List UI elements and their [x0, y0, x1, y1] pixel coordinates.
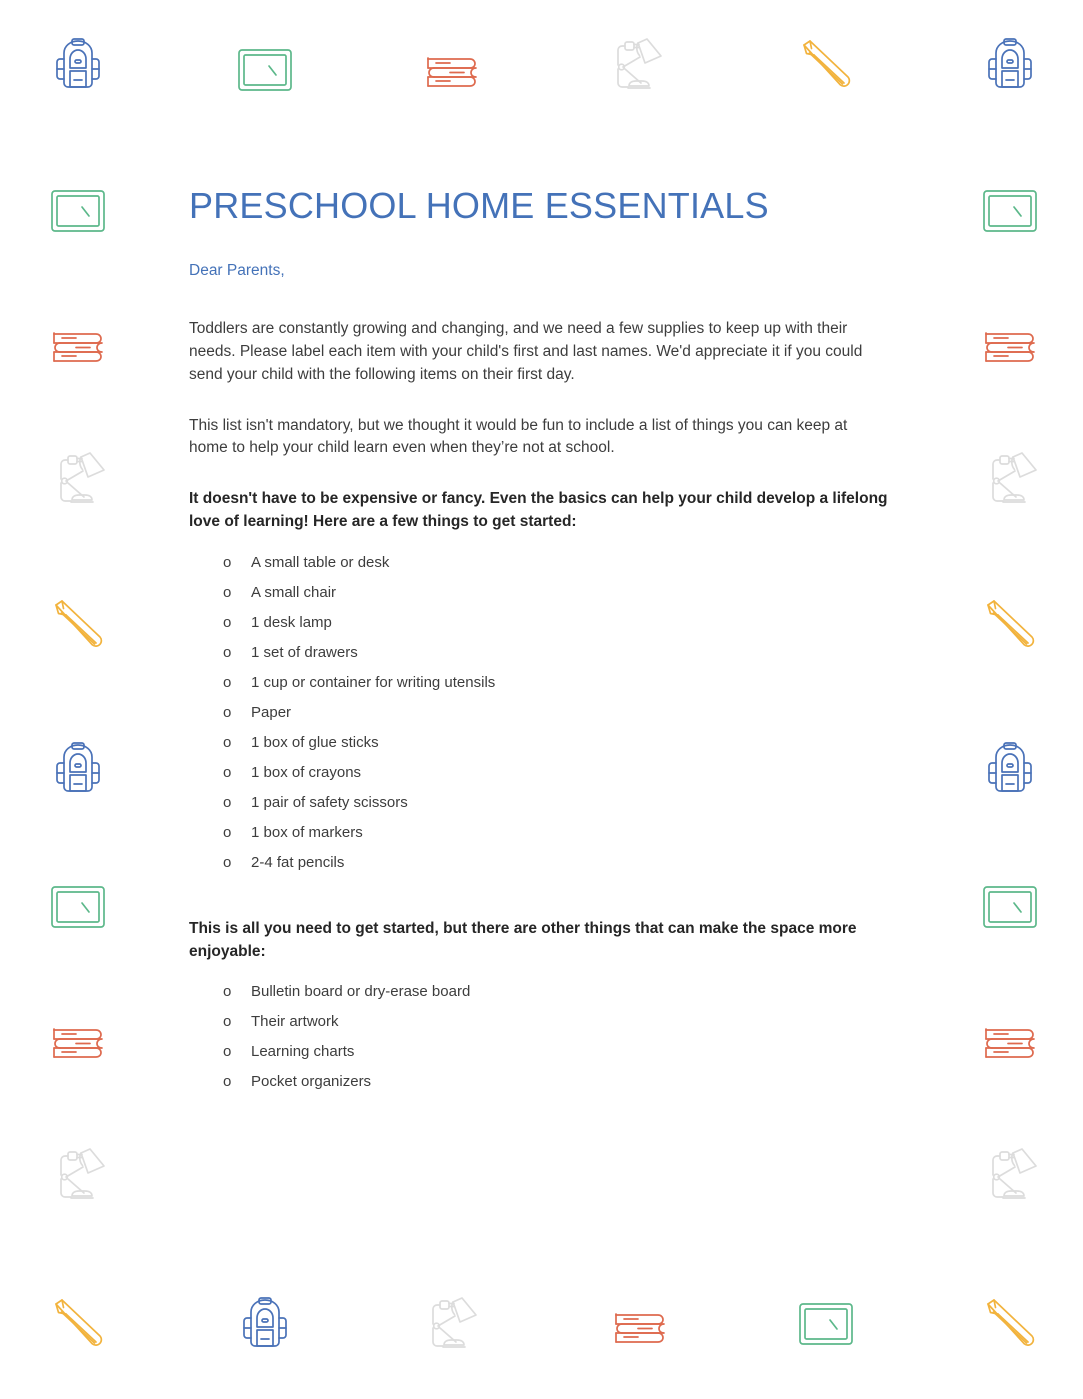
pencil-icon: [46, 593, 110, 657]
desk-lamp-icon: [46, 447, 110, 511]
backpack-icon: [46, 33, 110, 97]
list-bullet-marker: o: [223, 765, 251, 780]
list-item-label: 1 desk lamp: [251, 615, 889, 630]
book-stack-icon: [608, 1292, 672, 1356]
list-item: o1 box of glue sticks: [223, 728, 889, 758]
list-item: o1 desk lamp: [223, 608, 889, 638]
drawing-tablet-icon: [978, 875, 1042, 939]
list-bullet-marker: o: [223, 705, 251, 720]
list-item-label: 1 pair of safety scissors: [251, 795, 889, 810]
intro-paragraph-1: Toddlers are constantly growing and chan…: [189, 318, 889, 386]
section-heading-extras: This is all you need to get started, but…: [189, 918, 889, 964]
list-bullet-marker: o: [223, 555, 251, 570]
list-item: o1 pair of safety scissors: [223, 788, 889, 818]
list-item-label: A small chair: [251, 585, 889, 600]
list-item-label: Their artwork: [251, 1014, 889, 1029]
drawing-tablet-icon: [46, 875, 110, 939]
book-stack-icon: [420, 36, 484, 100]
list-bullet-marker: o: [223, 585, 251, 600]
list-item-label: Learning charts: [251, 1044, 889, 1059]
list-bullet-marker: o: [223, 855, 251, 870]
list-bullet-marker: o: [223, 735, 251, 750]
backpack-icon: [233, 1292, 297, 1356]
backpack-icon: [978, 737, 1042, 801]
supply-list-extras: oBulletin board or dry-erase boardoTheir…: [189, 977, 889, 1097]
intro-paragraph-2: This list isn't mandatory, but we though…: [189, 415, 889, 461]
list-item: oTheir artwork: [223, 1007, 889, 1037]
list-item-label: 1 set of drawers: [251, 645, 889, 660]
salutation: Dear Parents,: [189, 262, 889, 280]
pencil-icon: [978, 593, 1042, 657]
list-bullet-marker: o: [223, 1074, 251, 1089]
list-item: o1 set of drawers: [223, 638, 889, 668]
list-item: oA small table or desk: [223, 548, 889, 578]
pencil-icon: [46, 1292, 110, 1356]
list-item: oLearning charts: [223, 1037, 889, 1067]
list-item-label: 2-4 fat pencils: [251, 855, 889, 870]
list-bullet-marker: o: [223, 1014, 251, 1029]
list-item-label: 1 box of glue sticks: [251, 735, 889, 750]
book-stack-icon: [978, 311, 1042, 375]
pencil-icon: [794, 33, 858, 97]
list-item-label: Paper: [251, 705, 889, 720]
list-item: oPaper: [223, 698, 889, 728]
list-bullet-marker: o: [223, 984, 251, 999]
list-bullet-marker: o: [223, 1044, 251, 1059]
list-bullet-marker: o: [223, 825, 251, 840]
list-bullet-marker: o: [223, 615, 251, 630]
list-item-label: A small table or desk: [251, 555, 889, 570]
pencil-icon: [978, 1292, 1042, 1356]
drawing-tablet-icon: [233, 38, 297, 102]
book-stack-icon: [46, 1007, 110, 1071]
list-item-label: Pocket organizers: [251, 1074, 889, 1089]
document-body: PRESCHOOL HOME ESSENTIALS Dear Parents, …: [189, 186, 889, 1097]
list-item: o2-4 fat pencils: [223, 848, 889, 878]
section-heading-basics: It doesn't have to be expensive or fancy…: [189, 488, 889, 534]
list-item: o1 box of crayons: [223, 758, 889, 788]
drawing-tablet-icon: [978, 179, 1042, 243]
list-item-label: Bulletin board or dry-erase board: [251, 984, 889, 999]
list-item: oA small chair: [223, 578, 889, 608]
list-item-label: 1 box of markers: [251, 825, 889, 840]
list-bullet-marker: o: [223, 645, 251, 660]
drawing-tablet-icon: [46, 179, 110, 243]
book-stack-icon: [978, 1007, 1042, 1071]
backpack-icon: [46, 737, 110, 801]
list-bullet-marker: o: [223, 795, 251, 810]
list-item: o1 cup or container for writing utensils: [223, 668, 889, 698]
list-item: o1 box of markers: [223, 818, 889, 848]
list-spacer: [189, 878, 889, 888]
desk-lamp-icon: [978, 1143, 1042, 1207]
list-bullet-marker: o: [223, 675, 251, 690]
list-item: oBulletin board or dry-erase board: [223, 977, 889, 1007]
desk-lamp-icon: [978, 447, 1042, 511]
desk-lamp-icon: [603, 33, 667, 97]
desk-lamp-icon: [46, 1143, 110, 1207]
supply-list-essentials: oA small table or deskoA small chairo1 d…: [189, 548, 889, 878]
backpack-icon: [978, 33, 1042, 97]
list-item-label: 1 box of crayons: [251, 765, 889, 780]
page-title: PRESCHOOL HOME ESSENTIALS: [189, 186, 889, 226]
drawing-tablet-icon: [794, 1292, 858, 1356]
list-item-label: 1 cup or container for writing utensils: [251, 675, 889, 690]
desk-lamp-icon: [418, 1292, 482, 1356]
book-stack-icon: [46, 311, 110, 375]
list-item: oPocket organizers: [223, 1067, 889, 1097]
